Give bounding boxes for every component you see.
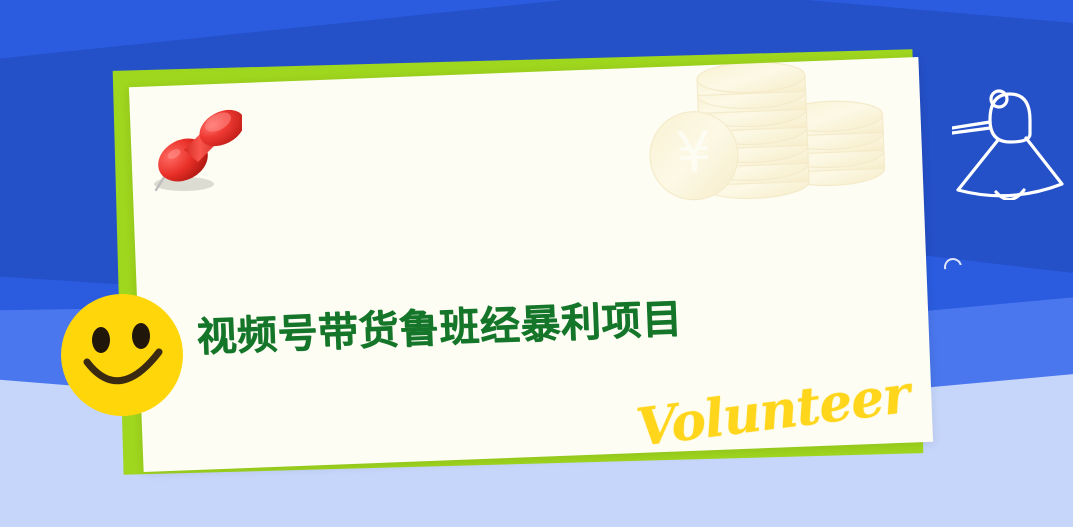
- poster-stage: ¥ 视频号带货鲁班经暴利项目 日入5000+穷人逆风翻盘必做项目 0投资大收益 …: [0, 0, 1073, 527]
- lamp-outline-icon: [952, 72, 1070, 200]
- headline-line-1: 视频号带货鲁班经暴利项目: [195, 280, 917, 371]
- smiley-face-icon: [59, 292, 185, 418]
- white-note-card: ¥ 视频号带货鲁班经暴利项目 日入5000+穷人逆风翻盘必做项目 0投资大收益 …: [129, 57, 933, 472]
- red-pushpin-icon: [150, 98, 242, 198]
